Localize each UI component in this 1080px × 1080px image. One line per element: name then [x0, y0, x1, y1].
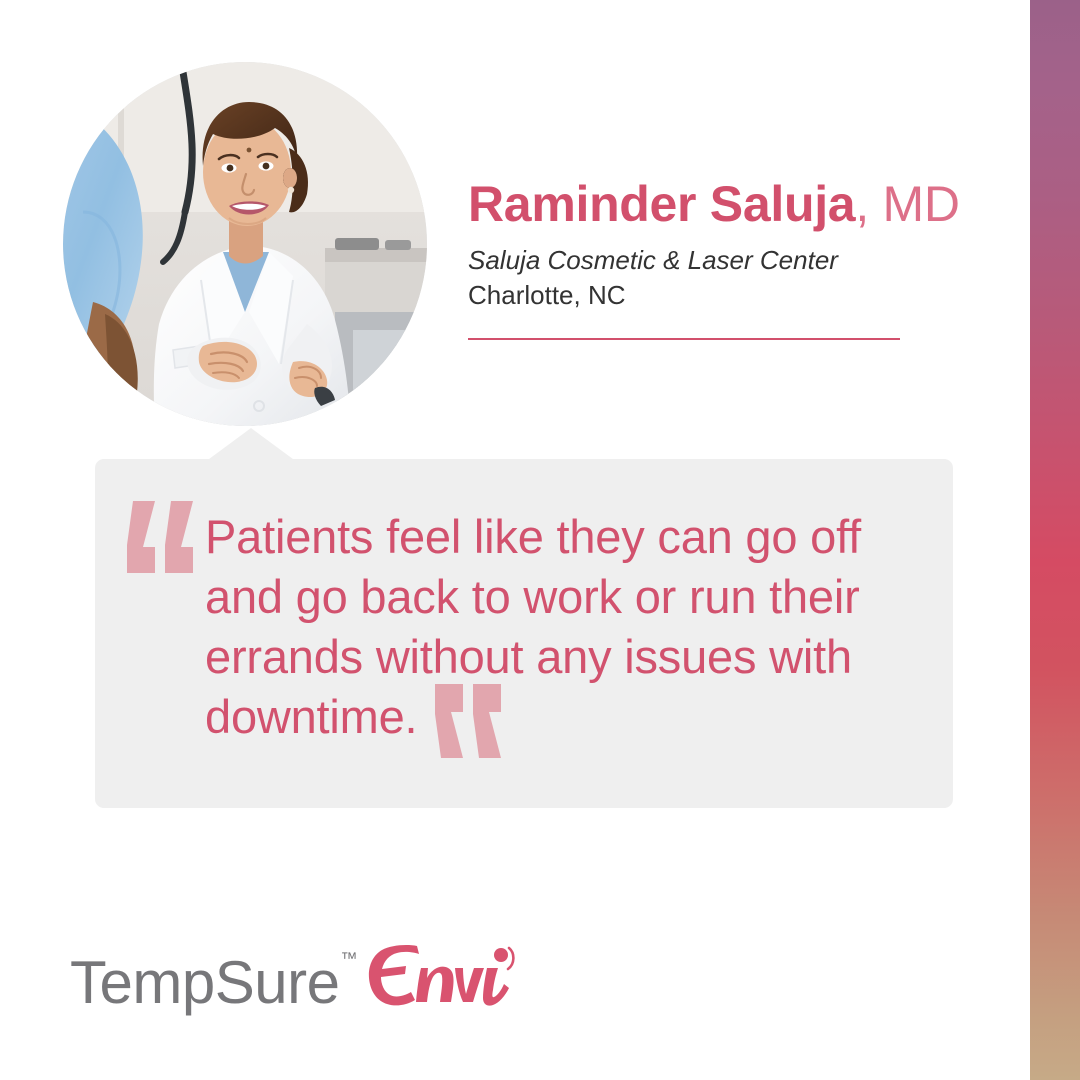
doctor-info-block: Raminder Saluja, MD Saluja Cosmetic & La… — [468, 175, 918, 340]
doctor-credential: , MD — [855, 176, 959, 232]
testimonial-graphic: Raminder Saluja, MD Saluja Cosmetic & La… — [0, 0, 1080, 1080]
doctor-name-line: Raminder Saluja, MD — [468, 175, 918, 233]
logo-tempsure-wordmark: TempSure — [70, 952, 339, 1014]
practice-location: Charlotte, NC — [468, 278, 918, 312]
gradient-accent-bar — [1030, 0, 1080, 1080]
close-quote-icon — [433, 684, 511, 776]
logo-envi-script — [363, 938, 515, 1012]
envi-dot-icon — [494, 948, 508, 962]
brand-logo: TempSure ™ — [70, 938, 515, 1014]
quote-text: Patients feel like they can go off and g… — [205, 507, 885, 747]
quote-card: Patients feel like they can go off and g… — [95, 459, 953, 808]
divider-rule — [468, 338, 900, 340]
trademark-icon: ™ — [340, 950, 357, 967]
doctor-name: Raminder Saluja — [468, 176, 855, 232]
callout-tail — [205, 428, 297, 462]
doctor-photo — [63, 62, 427, 426]
logo-envi-wordmark — [363, 938, 515, 1012]
practice-name: Saluja Cosmetic & Laser Center — [468, 243, 918, 277]
envi-arc-icon — [508, 948, 513, 969]
open-quote-icon — [125, 501, 203, 579]
doctor-photo-image — [63, 62, 427, 426]
